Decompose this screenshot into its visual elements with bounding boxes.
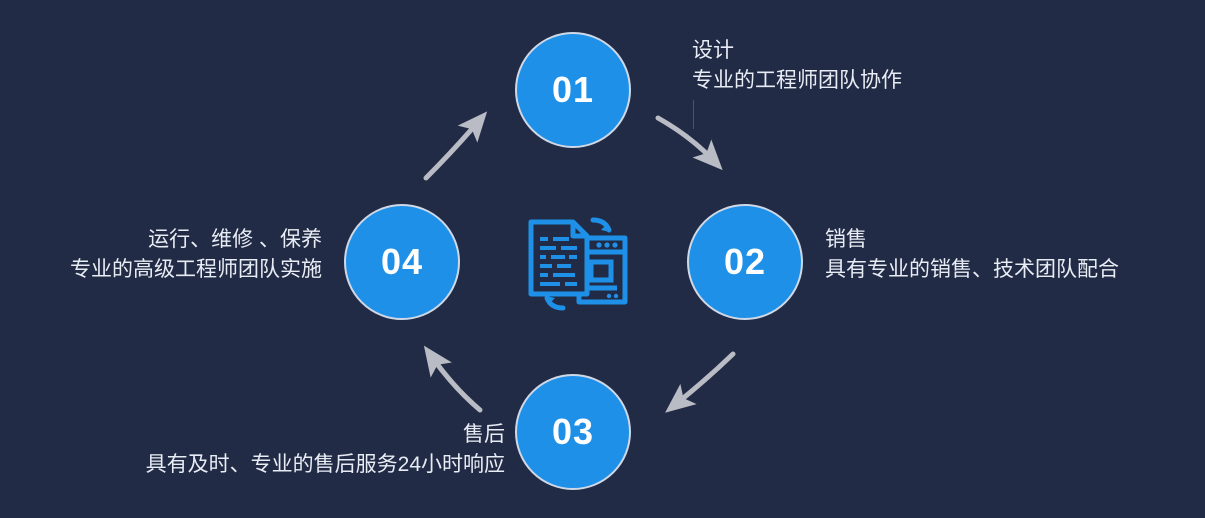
step-circle-03[interactable]: 03 bbox=[515, 374, 631, 490]
caption-step-03: 售后 具有及时、专业的售后服务24小时响应 bbox=[146, 420, 505, 480]
caption-title-01: 设计 bbox=[692, 36, 902, 66]
step-number-03: 03 bbox=[552, 414, 594, 450]
window-dot-3 bbox=[612, 242, 617, 247]
window-dot-5 bbox=[614, 294, 618, 298]
step-number-01: 01 bbox=[552, 72, 594, 108]
decorative-tick bbox=[693, 100, 694, 129]
step-number-02: 02 bbox=[724, 244, 766, 280]
window-dot-1 bbox=[596, 242, 601, 247]
step-circle-01[interactable]: 01 bbox=[515, 32, 631, 148]
caption-desc-02: 具有专业的销售、技术团队配合 bbox=[825, 255, 1119, 285]
caption-step-01: 设计 专业的工程师团队协作 bbox=[692, 36, 902, 96]
step-circle-02[interactable]: 02 bbox=[687, 204, 803, 320]
caption-step-02: 销售 具有专业的销售、技术团队配合 bbox=[825, 225, 1119, 285]
caption-title-04: 运行、维修 、保养 bbox=[70, 225, 322, 255]
caption-desc-04: 专业的高级工程师团队实施 bbox=[70, 255, 322, 285]
arrow-03-to-04 bbox=[432, 357, 480, 410]
arrow-01-to-02 bbox=[658, 118, 713, 160]
caption-title-02: 销售 bbox=[825, 225, 1119, 255]
caption-desc-01: 专业的工程师团队协作 bbox=[692, 66, 902, 96]
caption-step-04: 运行、维修 、保养 专业的高级工程师团队实施 bbox=[70, 225, 322, 285]
window-dot-4 bbox=[607, 294, 611, 298]
caption-title-03: 售后 bbox=[146, 420, 505, 450]
process-cycle-diagram: 01 02 03 04 bbox=[0, 0, 1205, 518]
arrow-04-to-01 bbox=[426, 122, 478, 178]
window-dot-2 bbox=[604, 242, 609, 247]
arrow-02-to-03 bbox=[676, 354, 733, 404]
step-number-04: 04 bbox=[381, 244, 423, 280]
step-circle-04[interactable]: 04 bbox=[344, 204, 460, 320]
caption-desc-03: 具有及时、专业的售后服务24小时响应 bbox=[146, 450, 505, 480]
document-to-window-conversion-icon bbox=[521, 208, 633, 320]
window-inner-panel bbox=[591, 262, 611, 280]
